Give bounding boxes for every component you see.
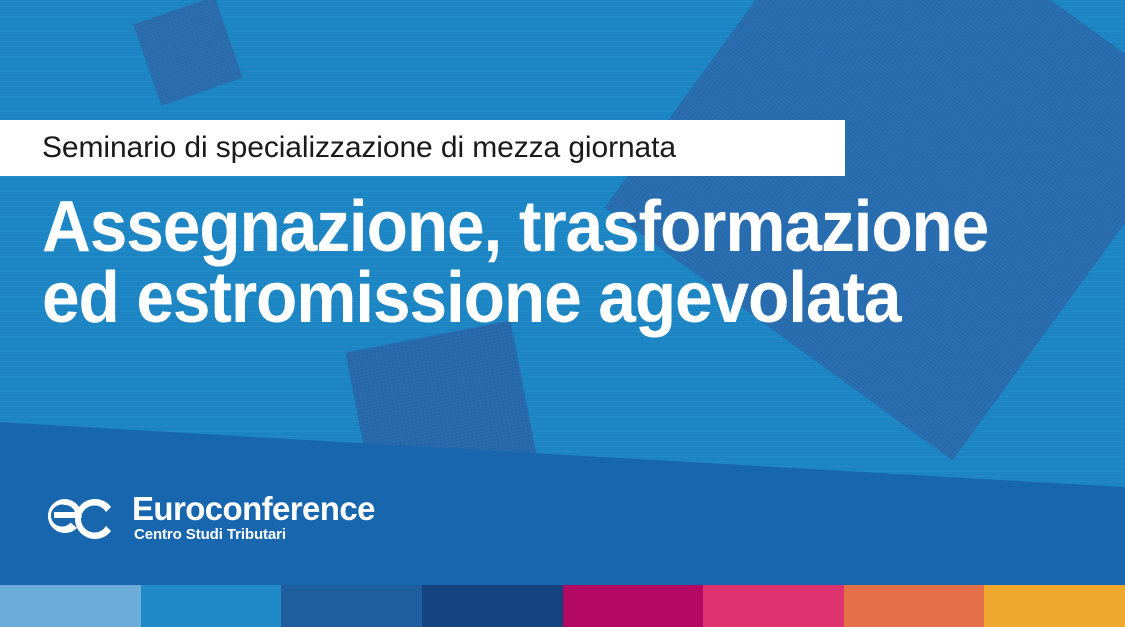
subtitle-banner: Seminario di specializzazione di mezza g…	[0, 120, 845, 176]
subtitle-text: Seminario di specializzazione di mezza g…	[0, 133, 676, 163]
page-title: Assegnazione, trasformazione ed estromis…	[42, 192, 1024, 333]
color-band-navy	[422, 585, 563, 627]
ec-monogram-icon	[42, 492, 118, 544]
color-band-light-blue	[0, 585, 141, 627]
logo-name: Euroconference	[132, 492, 375, 526]
grain-overlay	[133, 0, 242, 106]
logo-tagline: Centro Studi Tributari	[132, 526, 375, 544]
color-band-orange	[844, 585, 985, 627]
color-band-blue	[141, 585, 282, 627]
color-strip	[0, 585, 1125, 627]
color-band-magenta	[563, 585, 704, 627]
color-band-steel-blue	[281, 585, 422, 627]
color-band-pink	[703, 585, 844, 627]
euroconference-logo: Euroconference Centro Studi Tributari	[42, 492, 375, 544]
square-small-top-left-shape	[133, 0, 242, 106]
color-band-amber	[984, 585, 1125, 627]
logo-wordmark: Euroconference Centro Studi Tributari	[132, 492, 375, 544]
promotional-banner: Seminario di specializzazione di mezza g…	[0, 0, 1125, 627]
